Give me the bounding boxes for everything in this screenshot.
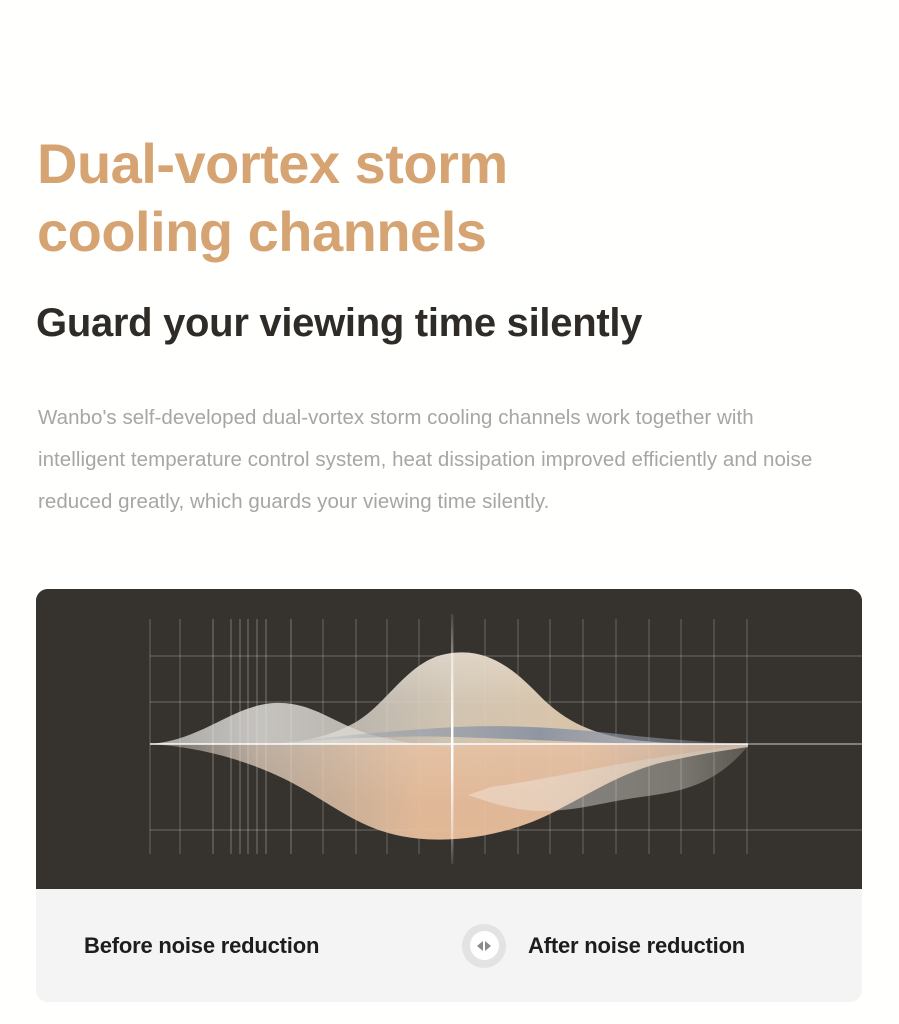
body-paragraph: Wanbo's self-developed dual-vortex storm…: [38, 397, 828, 523]
comparison-divider[interactable]: [451, 614, 453, 864]
noise-visualization-panel: [36, 589, 862, 889]
arrow-left-icon: [477, 941, 483, 951]
page-subtitle: Guard your viewing time silently: [36, 297, 856, 349]
waveform-graphic: [36, 589, 862, 889]
arrow-right-icon: [485, 941, 491, 951]
page-root: Dual-vortex storm cooling channels Guard…: [0, 0, 899, 1024]
slider-handle-inner: [470, 931, 499, 960]
before-label: Before noise reduction: [84, 933, 319, 959]
after-label: After noise reduction: [528, 933, 745, 959]
comparison-slider-handle[interactable]: [462, 924, 506, 968]
comparison-caption-bar: Before noise reduction After noise reduc…: [36, 889, 862, 1002]
page-title: Dual-vortex storm cooling channels: [37, 130, 837, 266]
